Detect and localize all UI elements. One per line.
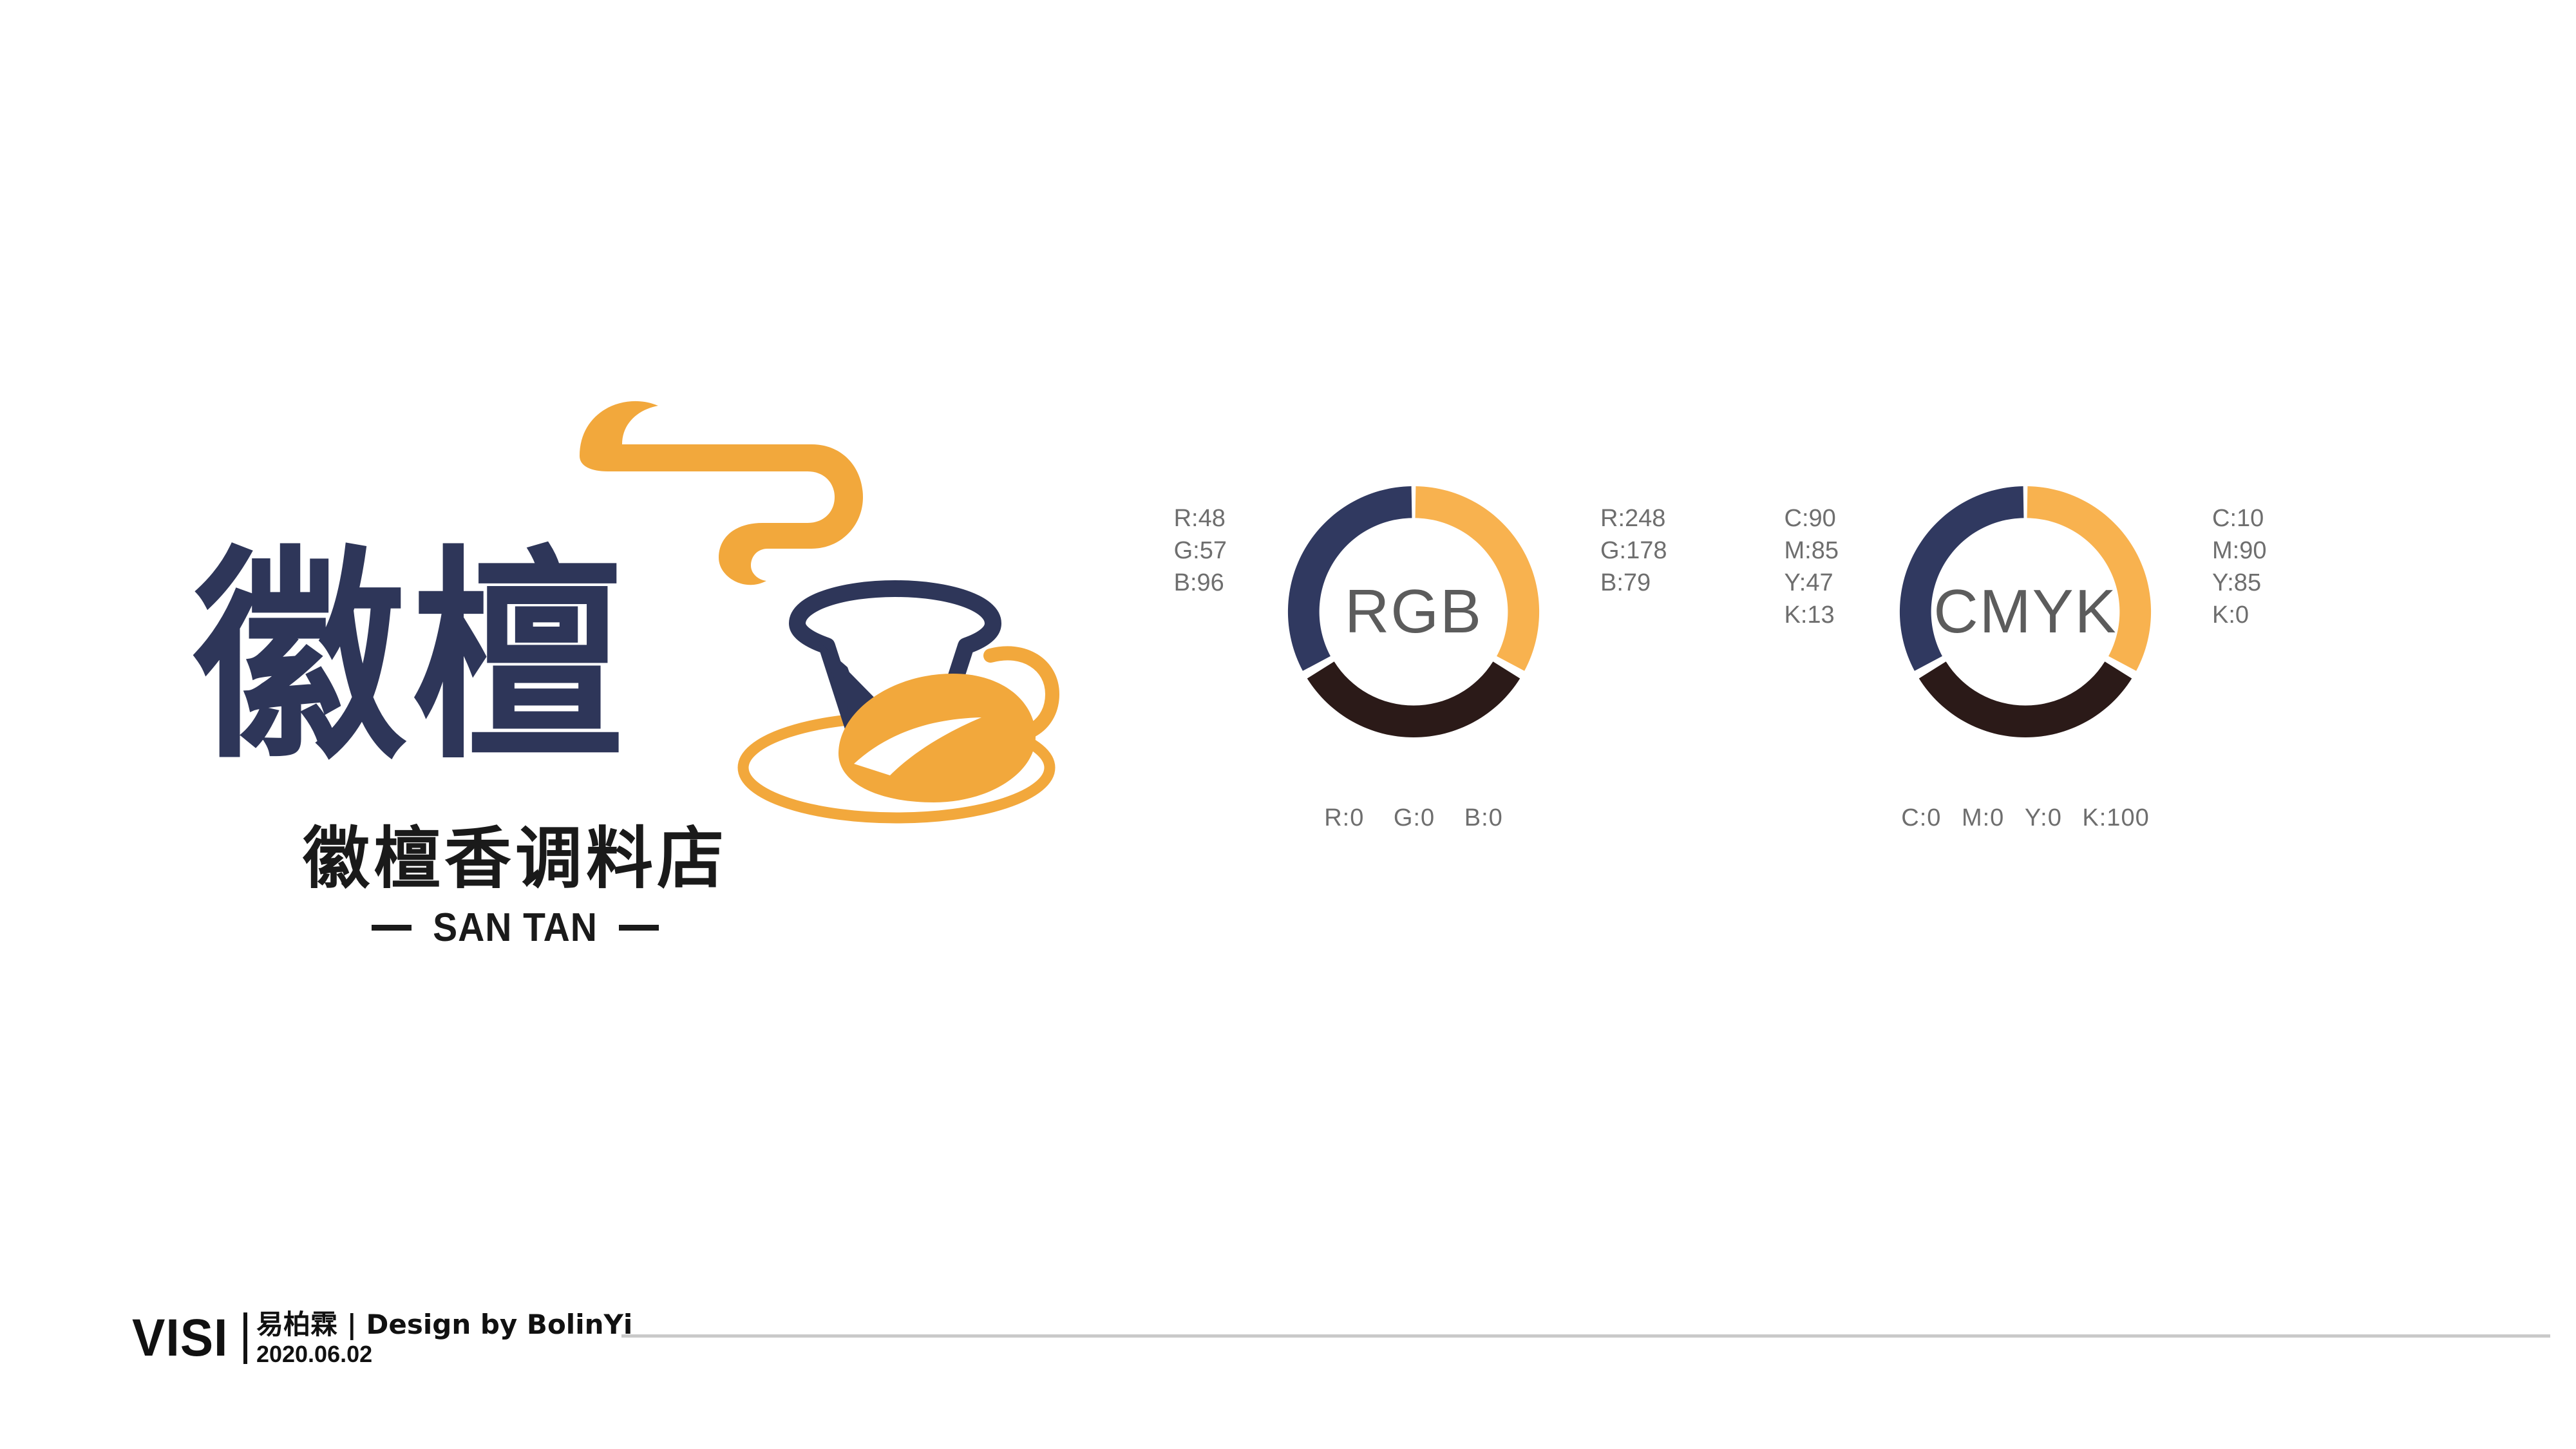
footer-designer-credit: 易柏霖 | Design by BolinYi [256, 1309, 632, 1341]
coffee-cup-with-leaf-icon [721, 541, 1082, 831]
footer-credit-block: VISI 易柏霖 | Design by BolinYi 2020.06.02 [132, 1307, 632, 1369]
footer-credit-stack: 易柏霖 | Design by BolinYi 2020.06.02 [256, 1307, 632, 1369]
cmyk-swatch-label-navy: C:90 M:85 Y:47 K:13 [1785, 502, 1839, 631]
cmyk-swatch-label-black: C:0 M:0 Y:0 K:100 [1671, 802, 2380, 834]
cmyk-color-donut-card: CMYK C:90 M:85 Y:47 K:13 C:10 M:90 Y:85 … [1671, 444, 2380, 998]
brand-subtitle-chinese: 徽檀香调料店 [193, 821, 837, 896]
dash-left-icon [372, 925, 412, 931]
brand-logo-lockup: 徽檀 徽檀香调料店 SAN TAN [193, 361, 1095, 1030]
cmyk-center-title: CMYK [1858, 444, 2193, 779]
footer-separator-bar [243, 1312, 247, 1364]
dash-right-icon [619, 925, 659, 931]
cmyk-swatch-label-orange: C:10 M:90 Y:85 K:0 [2212, 502, 2266, 631]
rgb-swatch-label-navy: R:48 G:57 B:96 [1174, 502, 1227, 599]
brand-subtitle-latin-text: SAN TAN [433, 905, 598, 951]
brand-subtitle-latin: SAN TAN [193, 905, 837, 951]
wordmark-chinese: 徽檀 [193, 522, 773, 808]
footer-divider [621, 1334, 2550, 1338]
rgb-swatch-label-black: R:0 G:0 B:0 [1059, 802, 1768, 834]
rgb-swatch-label-orange: R:248 G:178 B:79 [1600, 502, 1667, 599]
rgb-center-title: RGB [1246, 444, 1581, 779]
footer-date: 2020.06.02 [256, 1341, 632, 1368]
footer-visi-label: VISI [132, 1307, 228, 1369]
rgb-color-donut-card: RGB R:48 G:57 B:96 R:248 G:178 B:79 R:0 … [1059, 444, 1768, 998]
page-footer: VISI 易柏霖 | Design by BolinYi 2020.06.02 [0, 1301, 2576, 1417]
